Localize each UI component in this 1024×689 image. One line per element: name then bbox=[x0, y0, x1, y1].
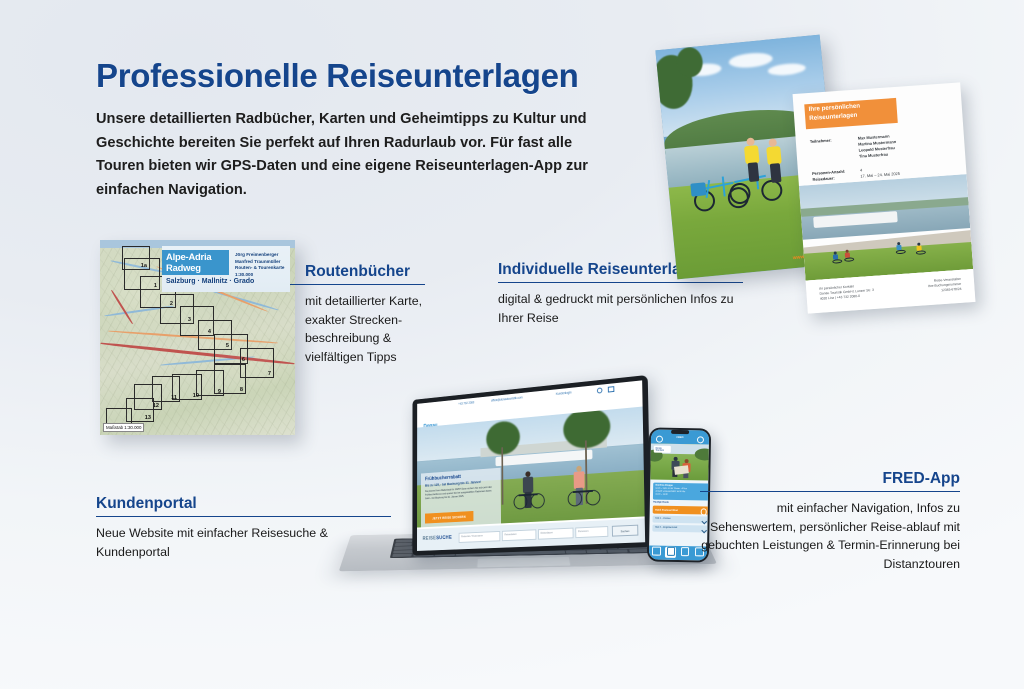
map-scale-bar: Maßstab 1:30.000 bbox=[103, 423, 144, 432]
caption-rule bbox=[700, 491, 960, 492]
cyclist-figure bbox=[895, 242, 903, 252]
hotel-name: Hotel Postsaal West bbox=[655, 508, 678, 511]
search-field-duration[interactable]: Reisedauer bbox=[538, 528, 574, 540]
promo-overlay-card: Frühbucherrabatt Bis zu 125,– bei Buchun… bbox=[421, 468, 501, 528]
info-icon bbox=[681, 547, 690, 556]
hero-image: Frühbucherrabatt Bis zu 125,– bei Buchun… bbox=[417, 407, 645, 528]
map-title: Alpe-Adria Radweg bbox=[166, 251, 211, 273]
card-title: Nächste Etappe bbox=[656, 484, 673, 486]
caption-title: Routenbücher bbox=[305, 263, 425, 281]
route-icon bbox=[667, 547, 676, 556]
promo-body: Sie planen Ihren Radurlaub für 2025? Dan… bbox=[425, 486, 497, 502]
menu-icon[interactable] bbox=[656, 436, 663, 443]
caption-title: Kundenportal bbox=[96, 495, 396, 513]
search-field-date[interactable]: Reisedatum bbox=[502, 529, 536, 541]
document-photo bbox=[799, 174, 973, 280]
document-row-value: 17. Mai – 24. Mai 2025 bbox=[860, 171, 900, 180]
cyclist-figure bbox=[843, 249, 851, 259]
bicycle-icon bbox=[513, 487, 544, 508]
caption-routenbuecher: Routenbücher mit detaillierter Karte, ex… bbox=[305, 263, 425, 366]
section-title-route: Heutige Route bbox=[653, 502, 669, 504]
caption-rule bbox=[498, 282, 743, 283]
tab-tour[interactable]: Tour bbox=[665, 547, 676, 558]
bicycle-icon bbox=[568, 484, 601, 505]
tab-infos[interactable]: Infos bbox=[680, 547, 691, 558]
tab-reise[interactable]: Reise bbox=[651, 547, 662, 558]
infographic-canvas: Professionelle Reiseunterlagen Unsere de… bbox=[0, 0, 1024, 689]
app-tab-bar: Reise Tour Infos Mehr bbox=[649, 545, 706, 560]
search-field-persons[interactable]: Personen bbox=[575, 526, 608, 538]
website-screen: +43 732 2080 office@donautouristik.com K… bbox=[417, 380, 645, 551]
document-row-value: Max Mustermann Martina Mustermann Leopol… bbox=[858, 133, 898, 159]
profile-icon[interactable] bbox=[697, 437, 704, 444]
search-icon[interactable] bbox=[597, 387, 603, 393]
cyclist-figure bbox=[915, 242, 923, 252]
caption-body: mit detaillierter Karte, exakter Strecke… bbox=[305, 292, 425, 366]
document-header-title: Ihre persönlichen Reiseunterlagen bbox=[808, 102, 861, 123]
map-subtitle: Salzburg · Mallnitz · Grado bbox=[166, 278, 254, 285]
personal-travel-documents-sheet: Ihre persönlichen Reiseunterlagen Teilne… bbox=[793, 82, 976, 313]
search-submit-button[interactable]: Suchen bbox=[612, 525, 638, 537]
map-authors: Jörg Freimenberger Manfred Traunmüller R… bbox=[235, 252, 284, 278]
caption-rule bbox=[96, 516, 391, 517]
caption-kundenportal: Kundenportal Neue Website mit einfacher … bbox=[96, 495, 396, 561]
caption-body: digital & gedruckt mit persönlichen Info… bbox=[498, 290, 748, 327]
app-title: FRED bbox=[676, 436, 683, 439]
routenbuch-map-cover: 1a 1 2 3 4 5 6 7 8 9 10 11 12 13 14 Alpe… bbox=[100, 240, 295, 435]
caption-title: FRED-App bbox=[700, 470, 960, 488]
cart-icon[interactable] bbox=[608, 386, 615, 392]
accordion-label: TAG 1 – Passau bbox=[655, 518, 671, 520]
document-footer-left: Ihr persönlicher Kontakt Donau Touristik… bbox=[819, 283, 874, 302]
caption-body: Neue Website mit einfacher Reisesuche & … bbox=[96, 524, 396, 561]
document-row-label: Teilnehmer: bbox=[810, 138, 832, 145]
topbar-login[interactable]: Kundenlogin bbox=[556, 391, 572, 396]
caption-rule bbox=[290, 284, 425, 285]
phone-notch bbox=[671, 430, 689, 435]
promo-cta-button[interactable]: JETZT REISE SICHERN bbox=[425, 511, 473, 524]
topbar-email[interactable]: office@donautouristik.com bbox=[491, 396, 523, 403]
document-footer-right: Reise-Veranstalter Ihre Buchungsnummer 1… bbox=[927, 277, 961, 295]
laptop-lid: +43 732 2080 office@donautouristik.com K… bbox=[412, 375, 651, 556]
page-title: Professionelle Reiseunterlagen bbox=[96, 58, 616, 94]
bush-shape bbox=[695, 449, 708, 461]
app-brand-badge: DonauTouristik bbox=[654, 446, 671, 453]
search-bar-label: REISESUCHE bbox=[423, 535, 452, 542]
topbar-phone[interactable]: +43 732 2080 bbox=[458, 401, 474, 406]
search-field-destination[interactable]: Reiseziel / Flussname bbox=[459, 531, 501, 543]
laptop-trackpad[interactable] bbox=[476, 556, 571, 568]
map-icon bbox=[652, 547, 661, 556]
cyclist-figure bbox=[832, 252, 840, 262]
accordion-label: TAG 2 – Engelhartszell bbox=[655, 527, 677, 529]
document-row-label: Reisedauer: bbox=[812, 175, 835, 182]
caption-fred-app: FRED-App mit einfacher Navigation, Infos… bbox=[700, 470, 960, 573]
caption-body: mit einfacher Navigation, Infos zu Sehen… bbox=[700, 499, 960, 573]
intro-paragraph: Unsere detaillierten Radbücher, Karten u… bbox=[96, 108, 616, 203]
